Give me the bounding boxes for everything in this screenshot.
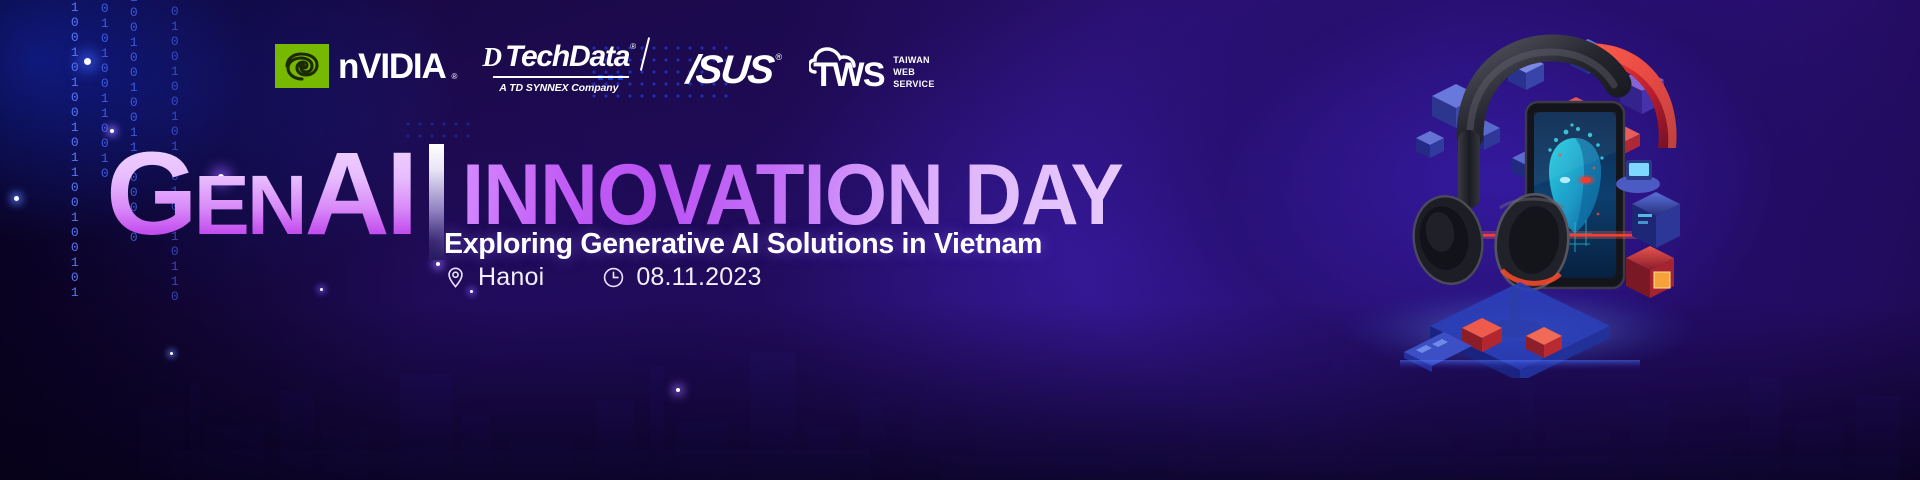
techdata-wordmark: TechData — [505, 40, 629, 74]
event-meta-row: Hanoi 08.11.2023 — [444, 263, 762, 292]
glow-spark — [170, 352, 173, 355]
page-subtitle: Exploring Generative AI Solutions in Vie… — [444, 228, 1042, 261]
glow-spark — [84, 58, 91, 65]
brand-title-genai: GENAI — [106, 140, 415, 249]
title-divider-bar — [429, 144, 444, 260]
meta-location: Hanoi — [444, 263, 544, 292]
partner-logo-bar: nVIDIA ® D TechData ® A TD SYNNEX Compan… — [275, 36, 935, 100]
glow-spark — [14, 196, 19, 201]
binary-stream: 01100101001011001001011100010 — [68, 0, 81, 300]
tws-line-1: TAIWAN — [893, 55, 934, 67]
event-title: INNOVATION DAY — [462, 152, 1123, 238]
asus-wordmark: /SUS — [685, 48, 775, 93]
logo-nvidia[interactable]: nVIDIA ® — [275, 36, 460, 88]
brand-letter-g: G — [106, 128, 194, 260]
tws-line-2: WEB — [893, 67, 934, 79]
techdata-d-icon: D — [482, 42, 501, 73]
location-pin-icon — [444, 266, 467, 289]
tws-line-3: SERVICE — [893, 79, 934, 91]
ai-tech-illustration — [1320, 8, 1720, 378]
glow-spark — [436, 262, 440, 266]
meta-date: 08.11.2023 — [602, 263, 761, 292]
logo-tws[interactable]: TWS TAIWAN WEB SERVICE — [809, 42, 934, 94]
logo-techdata[interactable]: D TechData ® A TD SYNNEX Company — [482, 40, 635, 94]
genai-innovation-day-banner: 0010100110010 01100101001011001001011100… — [0, 0, 1920, 480]
glow-spark — [320, 288, 323, 291]
meta-date-label: 08.11.2023 — [636, 263, 761, 292]
tws-service-lines: TAIWAN WEB SERVICE — [893, 55, 934, 94]
techdata-underline — [493, 76, 629, 78]
tws-mark: TWS — [809, 42, 887, 94]
clock-icon — [602, 266, 625, 289]
techdata-trademark: ® — [630, 42, 636, 51]
techdata-tagline: A TD SYNNEX Company — [499, 82, 618, 94]
glow-spark — [676, 388, 680, 392]
techdata-slash-divider — [640, 37, 650, 70]
logo-asus[interactable]: /SUS ® — [687, 48, 779, 93]
nvidia-eye-icon — [275, 44, 329, 88]
nvidia-trademark: ® — [452, 72, 458, 81]
nvidia-wordmark: nVIDIA — [338, 47, 446, 87]
tws-wordmark: TWS — [813, 56, 884, 95]
brand-letters-en: EN — [194, 158, 305, 252]
asus-trademark: ® — [776, 52, 783, 62]
brand-letters-ai: AI — [305, 128, 415, 260]
meta-location-label: Hanoi — [478, 263, 544, 292]
